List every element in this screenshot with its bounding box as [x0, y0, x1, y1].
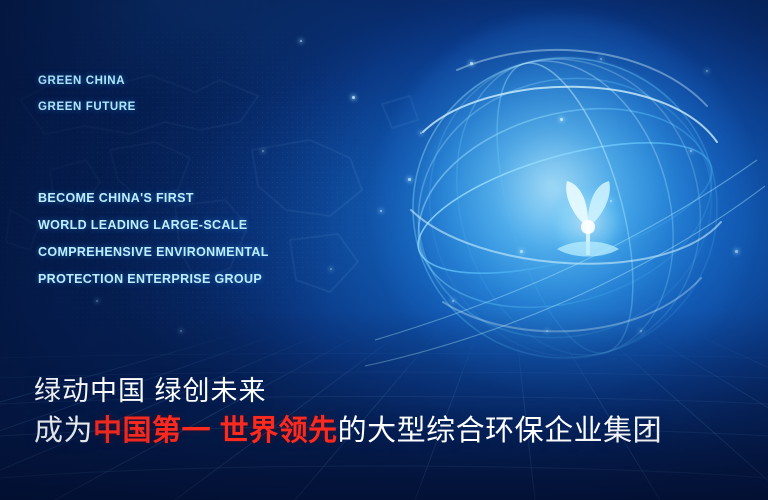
hero-banner: GREEN CHINA GREEN FUTURE BECOME CHINA'S …: [0, 0, 768, 500]
slogan-line-2: WORLD LEADING LARGE-SCALE: [38, 212, 269, 239]
headline-cn: 绿动中国 绿创未来: [34, 372, 754, 410]
tagline-line-1: GREEN CHINA: [38, 68, 136, 94]
slogan-line-3: COMPREHENSIVE ENVIRONMENTAL: [38, 239, 269, 266]
slogan-line-1: BECOME CHINA'S FIRST: [38, 185, 269, 212]
slogan-line-4: PROTECTION ENTERPRISE GROUP: [38, 266, 269, 293]
subheadline-suffix: 的大型综合环保企业集团: [338, 415, 663, 447]
tagline-en-top: GREEN CHINA GREEN FUTURE: [38, 68, 136, 120]
subheadline-cn: 成为中国第一 世界领先的大型综合环保企业集团: [34, 410, 754, 452]
tagline-line-2: GREEN FUTURE: [38, 94, 136, 120]
subheadline-highlight: 中国第一 世界领先: [93, 415, 338, 447]
slogan-en: BECOME CHINA'S FIRST WORLD LEADING LARGE…: [38, 185, 269, 293]
subheadline-prefix: 成为: [34, 415, 93, 447]
headline-block: 绿动中国 绿创未来 成为中国第一 世界领先的大型综合环保企业集团: [34, 372, 754, 452]
